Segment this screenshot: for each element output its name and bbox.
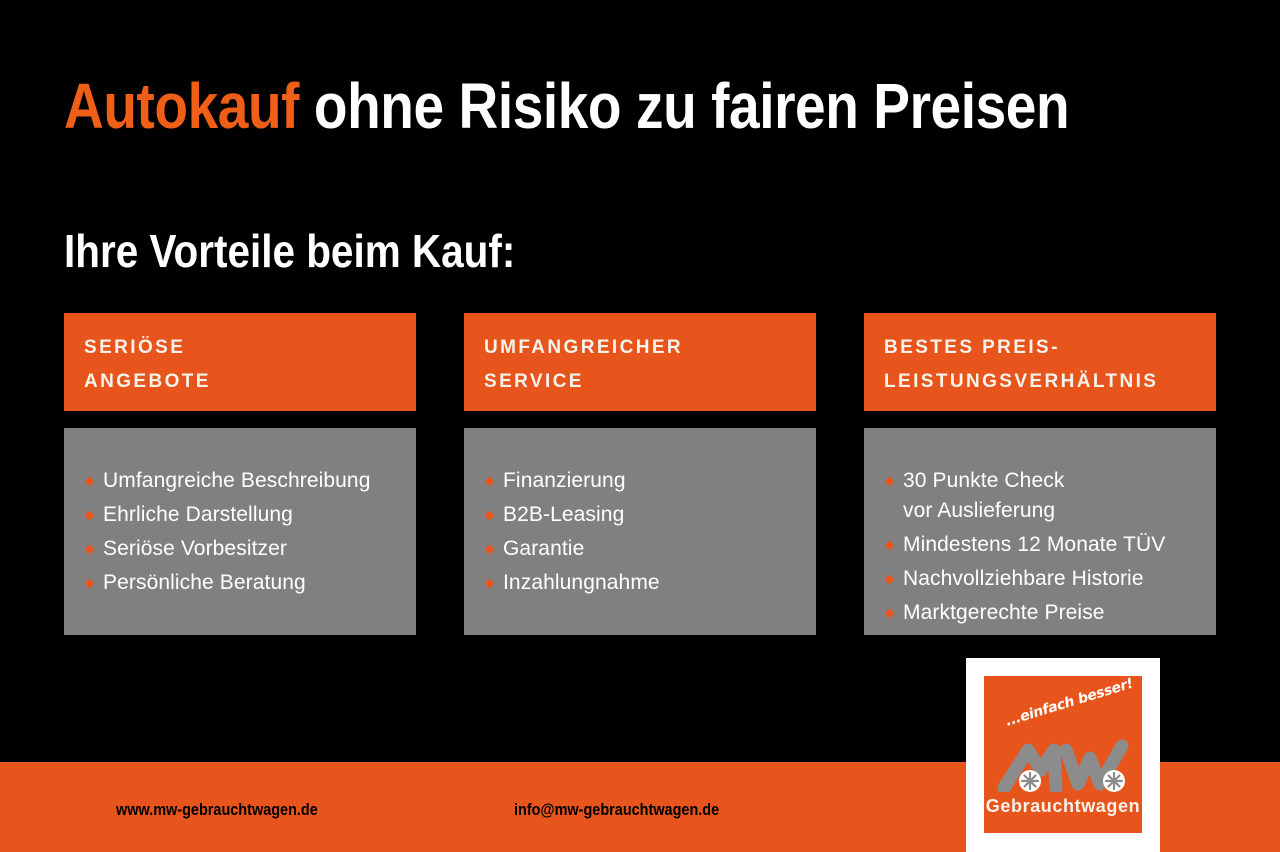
page-title-accent: Autokauf — [64, 70, 299, 142]
list-item-label: Garantie — [503, 534, 584, 564]
diamond-bullet-icon — [85, 545, 95, 555]
diamond-bullet-icon — [485, 579, 495, 589]
list-item-label: Inzahlungnahme — [503, 568, 660, 598]
email-link[interactable]: info@mw-gebrauchtwagen.de — [514, 800, 719, 820]
diamond-bullet-icon — [85, 511, 95, 521]
column-header: SERIÖSE ANGEBOTE — [64, 313, 416, 411]
column-body: 30 Punkte Checkvor Auslieferung Mindeste… — [864, 428, 1216, 635]
list-item-label-line-1: 30 Punkte Check — [903, 469, 1064, 492]
list-item: Nachvollziehbare Historie — [886, 564, 1200, 594]
column-header-line-1: SERIÖSE — [84, 331, 396, 365]
logo-tagline: ...einfach besser! — [1004, 676, 1135, 730]
diamond-bullet-icon — [85, 579, 95, 589]
column-body: Umfangreiche Beschreibung Ehrliche Darst… — [64, 428, 416, 635]
column-header-line-2: LEISTUNGSVERHÄLTNIS — [884, 365, 1196, 399]
diamond-bullet-icon — [885, 575, 895, 585]
advertisement-banner: Autokauf ohne Risiko zu fairen Preisen I… — [0, 0, 1280, 852]
list-item: Mindestens 12 Monate TÜV — [886, 530, 1200, 560]
page-title-rest: ohne Risiko zu fairen Preisen — [299, 70, 1069, 142]
list-item: Finanzierung — [486, 466, 800, 496]
list-item: Umfangreiche Beschreibung — [86, 466, 400, 496]
diamond-bullet-icon — [85, 477, 95, 487]
diamond-bullet-icon — [485, 545, 495, 555]
column-header-line-1: BESTES PREIS- — [884, 331, 1196, 365]
list-item: B2B-Leasing — [486, 500, 800, 530]
column-header: UMFANGREICHER SERVICE — [464, 313, 816, 411]
diamond-bullet-icon — [485, 511, 495, 521]
list-item: Seriöse Vorbesitzer — [86, 534, 400, 564]
column-header-line-1: UMFANGREICHER — [484, 331, 796, 365]
list-item-label: Finanzierung — [503, 466, 626, 496]
page-title: Autokauf ohne Risiko zu fairen Preisen — [64, 70, 1069, 142]
list-item-label-line-2: vor Auslieferung — [903, 496, 1064, 526]
list-item-label: Umfangreiche Beschreibung — [103, 466, 370, 496]
company-logo: ...einfach besser! Gebrauchtwagen — [966, 658, 1160, 852]
diamond-bullet-icon — [485, 477, 495, 487]
list-item: Marktgerechte Preise — [886, 598, 1200, 628]
list-item-label: B2B-Leasing — [503, 500, 624, 530]
list-item-label: Mindestens 12 Monate TÜV — [903, 530, 1165, 560]
logo-company-name: Gebrauchtwagen — [984, 796, 1142, 817]
column-header-line-2: SERVICE — [484, 365, 796, 399]
diamond-bullet-icon — [885, 609, 895, 619]
list-item-label: Seriöse Vorbesitzer — [103, 534, 287, 564]
benefits-columns: SERIÖSE ANGEBOTE Umfangreiche Beschreibu… — [64, 313, 1216, 635]
list-item-label: 30 Punkte Checkvor Auslieferung — [903, 466, 1064, 526]
list-item: Garantie — [486, 534, 800, 564]
list-item: 30 Punkte Checkvor Auslieferung — [886, 466, 1200, 526]
list-item-label: Nachvollziehbare Historie — [903, 564, 1144, 594]
list-item: Persönliche Beratung — [86, 568, 400, 598]
diamond-bullet-icon — [885, 541, 895, 551]
column-header: BESTES PREIS- LEISTUNGSVERHÄLTNIS — [864, 313, 1216, 411]
benefit-column-serioese-angebote: SERIÖSE ANGEBOTE Umfangreiche Beschreibu… — [64, 313, 416, 635]
list-item-label: Marktgerechte Preise — [903, 598, 1105, 628]
column-body: Finanzierung B2B-Leasing Garantie Inzahl… — [464, 428, 816, 635]
website-link[interactable]: www.mw-gebrauchtwagen.de — [116, 800, 318, 820]
section-subtitle: Ihre Vorteile beim Kauf: — [64, 224, 515, 278]
logo-inner-panel: ...einfach besser! Gebrauchtwagen — [984, 676, 1142, 833]
list-item-label: Persönliche Beratung — [103, 568, 306, 598]
benefit-column-bestes-preis-leistungsverhaeltnis: BESTES PREIS- LEISTUNGSVERHÄLTNIS 30 Pun… — [864, 313, 1216, 635]
diamond-bullet-icon — [885, 477, 895, 487]
list-item-label: Ehrliche Darstellung — [103, 500, 293, 530]
benefit-column-umfangreicher-service: UMFANGREICHER SERVICE Finanzierung B2B-L… — [464, 313, 816, 635]
mw-monogram-icon — [994, 734, 1132, 792]
list-item: Inzahlungnahme — [486, 568, 800, 598]
list-item: Ehrliche Darstellung — [86, 500, 400, 530]
column-header-line-2: ANGEBOTE — [84, 365, 396, 399]
